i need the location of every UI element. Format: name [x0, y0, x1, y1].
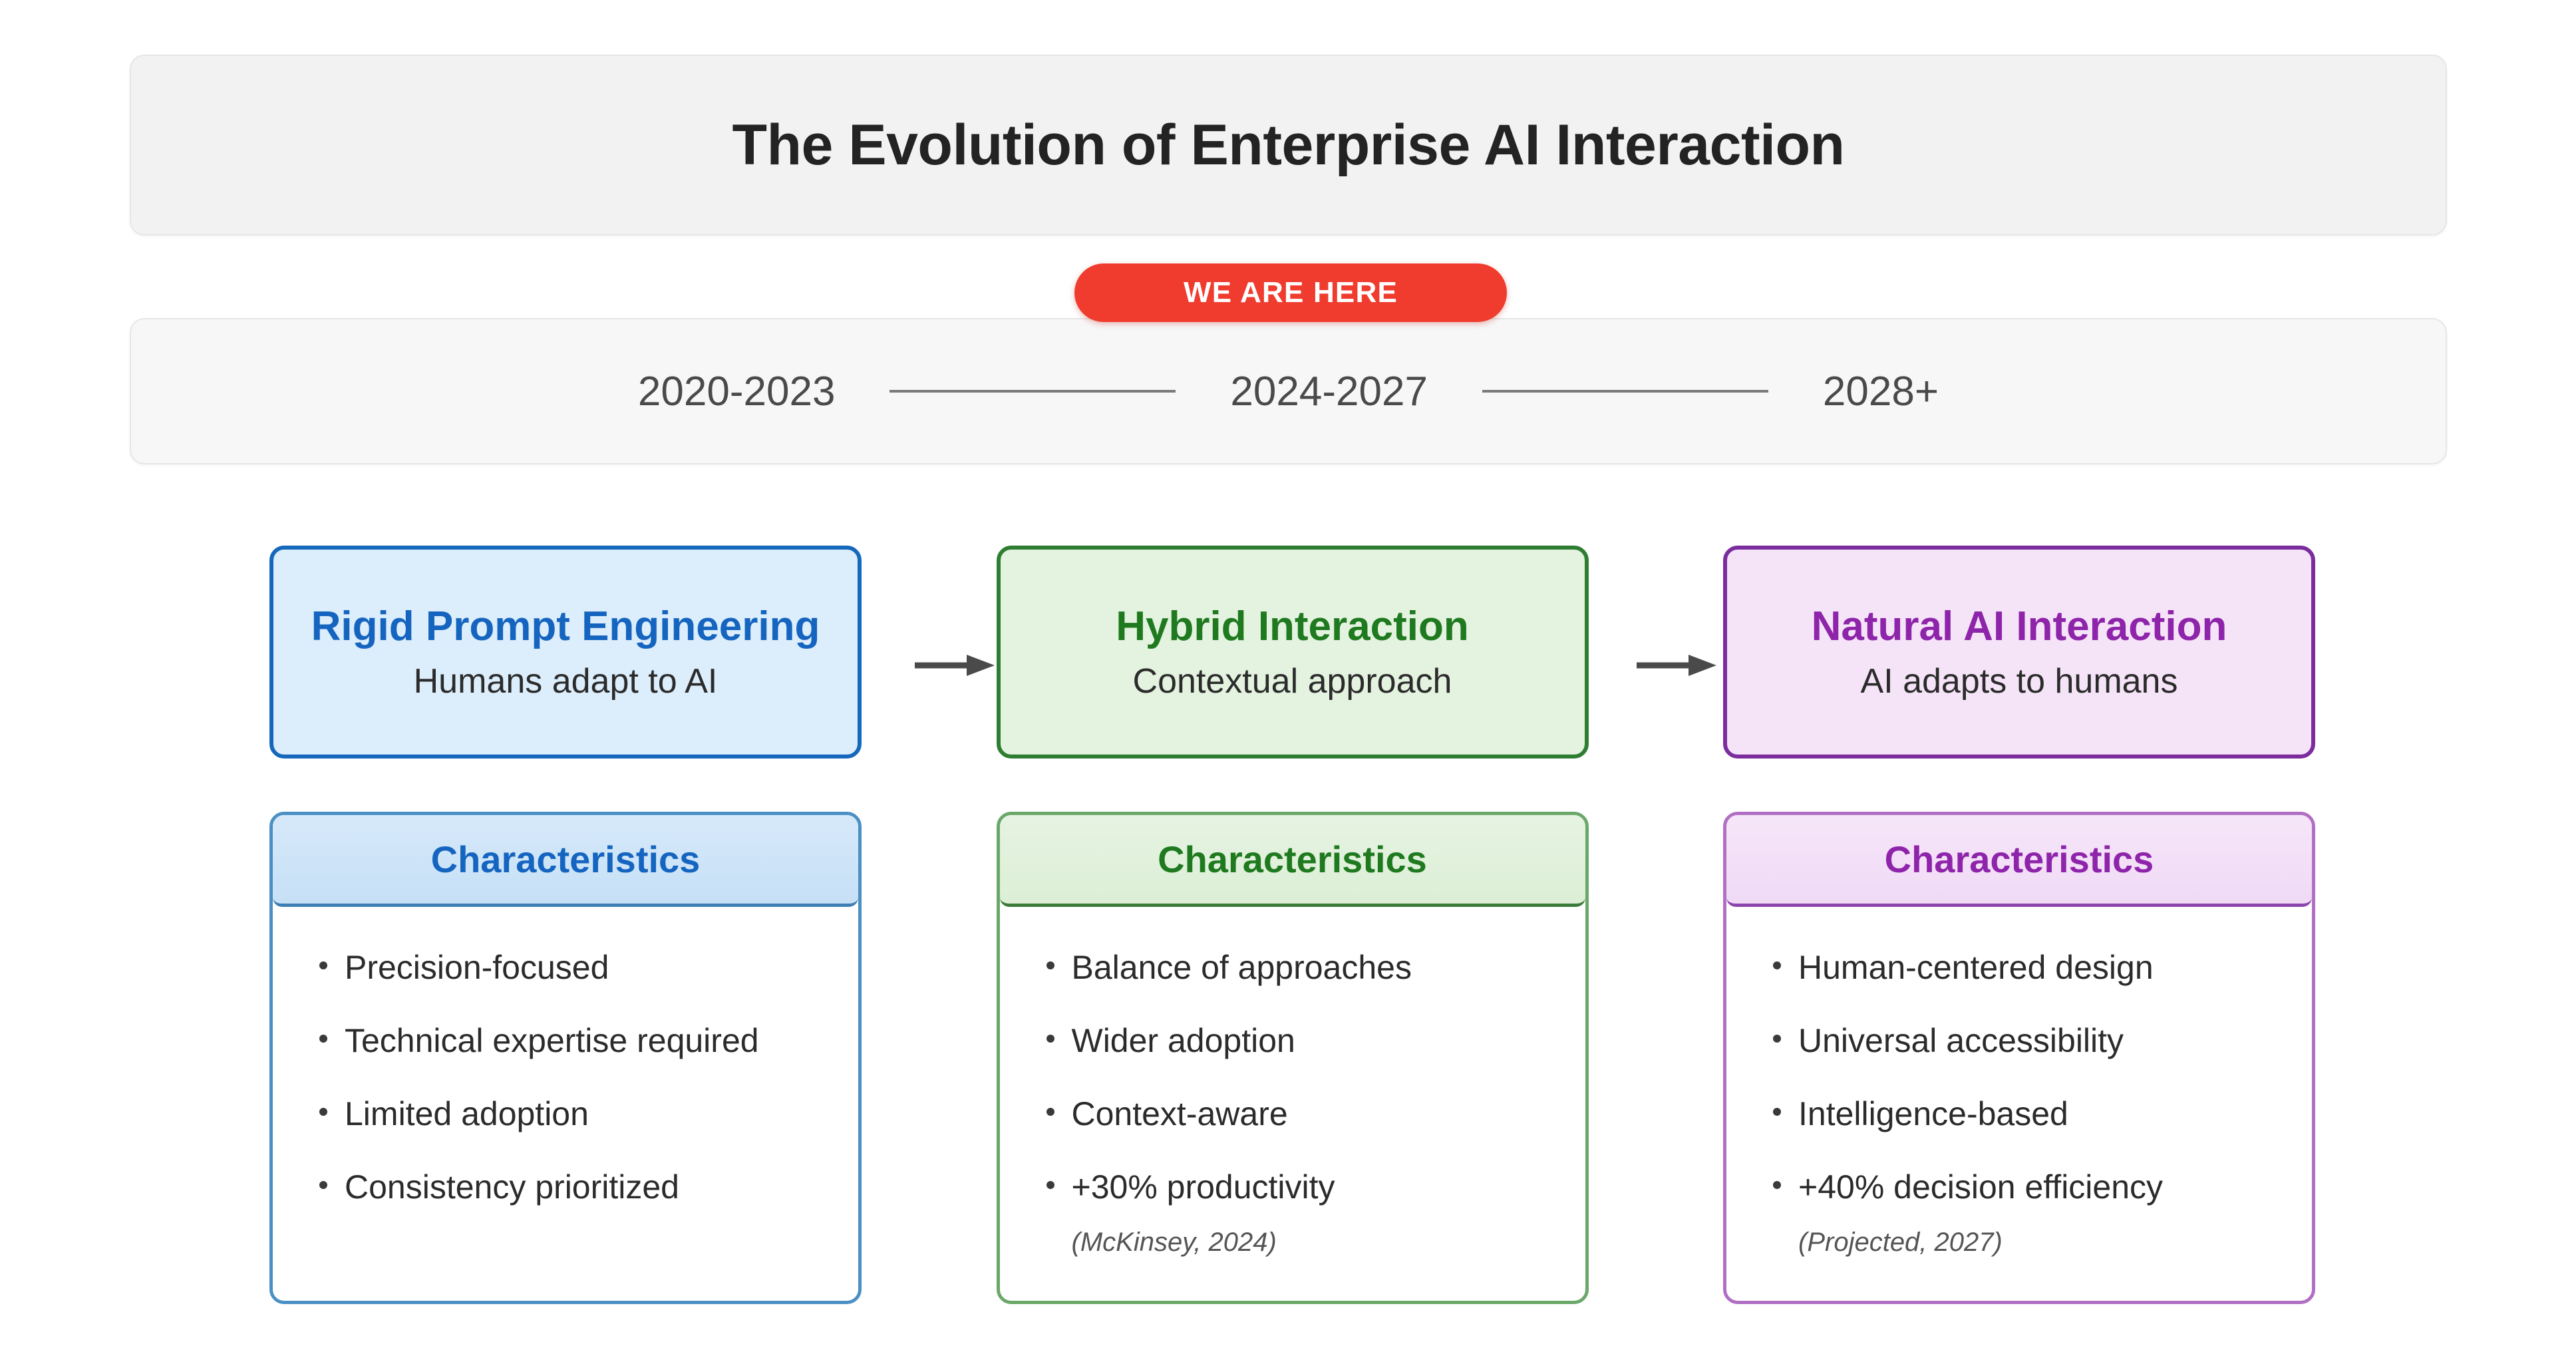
list-item-label: Wider adoption	[1072, 1021, 1295, 1060]
bullet-icon	[319, 1035, 327, 1043]
bullet-icon	[319, 1181, 327, 1189]
bullet-icon	[1046, 1181, 1054, 1189]
characteristics-header-3: Characteristics	[1726, 815, 2312, 907]
phase-title-2: Hybrid Interaction	[1116, 603, 1469, 650]
arrow-right-icon-2	[1637, 652, 1716, 679]
characteristics-list-1: Precision-focused Technical expertise re…	[273, 907, 858, 1228]
list-item-label: Precision-focused	[345, 948, 609, 987]
page-title-bar: The Evolution of Enterprise AI Interacti…	[130, 55, 2447, 236]
bullet-icon	[1773, 1181, 1781, 1189]
bullet-icon	[319, 961, 327, 969]
timeline-bar: 2020-2023 2024-2027 2028+	[130, 318, 2447, 464]
characteristics-panel-1: Characteristics Precision-focused Techni…	[269, 812, 862, 1304]
bullet-icon	[1046, 1108, 1054, 1116]
characteristics-header-2: Characteristics	[1000, 815, 1585, 907]
list-item: +40% decision efficiency	[1773, 1168, 2312, 1206]
phase-column-rigid-prompt-engineering: Rigid Prompt Engineering Humans adapt to…	[269, 546, 862, 1304]
list-item-label: Intelligence-based	[1798, 1095, 2068, 1133]
phase-subtitle-3: AI adapts to humans	[1861, 661, 2178, 701]
bullet-icon	[1773, 1108, 1781, 1116]
list-item-label: Universal accessibility	[1798, 1021, 2124, 1060]
list-item: Balance of approaches	[1046, 948, 1585, 987]
phase-title-1: Rigid Prompt Engineering	[311, 603, 820, 650]
phase-title-3: Natural AI Interaction	[1812, 603, 2227, 650]
timeline-period-1: 2020-2023	[638, 368, 836, 415]
phase-card-1[interactable]: Rigid Prompt Engineering Humans adapt to…	[269, 546, 862, 759]
phase-columns: Rigid Prompt Engineering Humans adapt to…	[269, 546, 2315, 1304]
list-item: Precision-focused	[319, 948, 858, 987]
list-item-label: Technical expertise required	[345, 1021, 759, 1060]
timeline-period-2: 2024-2027	[1230, 368, 1428, 415]
list-item: Intelligence-based	[1773, 1095, 2312, 1133]
list-item: Wider adoption	[1046, 1021, 1585, 1060]
list-item: Universal accessibility	[1773, 1021, 2312, 1060]
list-item: Technical expertise required	[319, 1021, 858, 1060]
characteristics-list-2: Balance of approaches Wider adoption Con…	[1000, 907, 1585, 1258]
list-item-label: +40% decision efficiency	[1798, 1168, 2163, 1206]
list-item-label: Balance of approaches	[1072, 948, 1412, 987]
list-item: Human-centered design	[1773, 948, 2312, 987]
characteristics-header-1: Characteristics	[273, 815, 858, 907]
phase-card-3[interactable]: Natural AI Interaction AI adapts to huma…	[1723, 546, 2315, 759]
page-title: The Evolution of Enterprise AI Interacti…	[732, 112, 1844, 178]
characteristics-list-3: Human-centered design Universal accessib…	[1726, 907, 2312, 1258]
timeline-connector-1	[889, 390, 1176, 393]
phase-card-2[interactable]: Hybrid Interaction Contextual approach	[997, 546, 1589, 759]
list-item-label: Context-aware	[1072, 1095, 1288, 1133]
bullet-icon	[319, 1108, 327, 1116]
phase-subtitle-1: Humans adapt to AI	[414, 661, 718, 701]
bullet-icon	[1773, 1035, 1781, 1043]
list-item-label: Consistency prioritized	[345, 1168, 679, 1206]
characteristics-panel-2: Characteristics Balance of approaches Wi…	[997, 812, 1589, 1304]
characteristics-note-2: (McKinsey, 2024)	[1072, 1228, 1585, 1258]
list-item: Context-aware	[1046, 1095, 1585, 1133]
list-item-label: Human-centered design	[1798, 948, 2154, 987]
list-item-label: Limited adoption	[345, 1095, 589, 1133]
characteristics-heading-3: Characteristics	[1885, 838, 2154, 881]
characteristics-heading-1: Characteristics	[431, 838, 701, 881]
we-are-here-badge: WE ARE HERE	[1074, 263, 1507, 322]
characteristics-panel-3: Characteristics Human-centered design Un…	[1723, 812, 2315, 1304]
list-item: Consistency prioritized	[319, 1168, 858, 1206]
phase-column-hybrid-interaction: Hybrid Interaction Contextual approach C…	[997, 546, 1589, 1304]
list-item-label: +30% productivity	[1072, 1168, 1335, 1206]
timeline-period-3: 2028+	[1823, 368, 1939, 415]
bullet-icon	[1046, 961, 1054, 969]
bullet-icon	[1773, 961, 1781, 969]
we-are-here-label: WE ARE HERE	[1184, 276, 1398, 309]
timeline-track: 2020-2023 2024-2027 2028+	[638, 368, 1939, 415]
phase-subtitle-2: Contextual approach	[1133, 661, 1452, 701]
phase-column-natural-ai-interaction: Natural AI Interaction AI adapts to huma…	[1723, 546, 2315, 1304]
list-item: Limited adoption	[319, 1095, 858, 1133]
list-item: +30% productivity	[1046, 1168, 1585, 1206]
characteristics-note-3: (Projected, 2027)	[1798, 1228, 2312, 1258]
arrow-right-icon-1	[915, 652, 995, 679]
characteristics-heading-2: Characteristics	[1158, 838, 1427, 881]
timeline-connector-2	[1482, 390, 1768, 393]
bullet-icon	[1046, 1035, 1054, 1043]
